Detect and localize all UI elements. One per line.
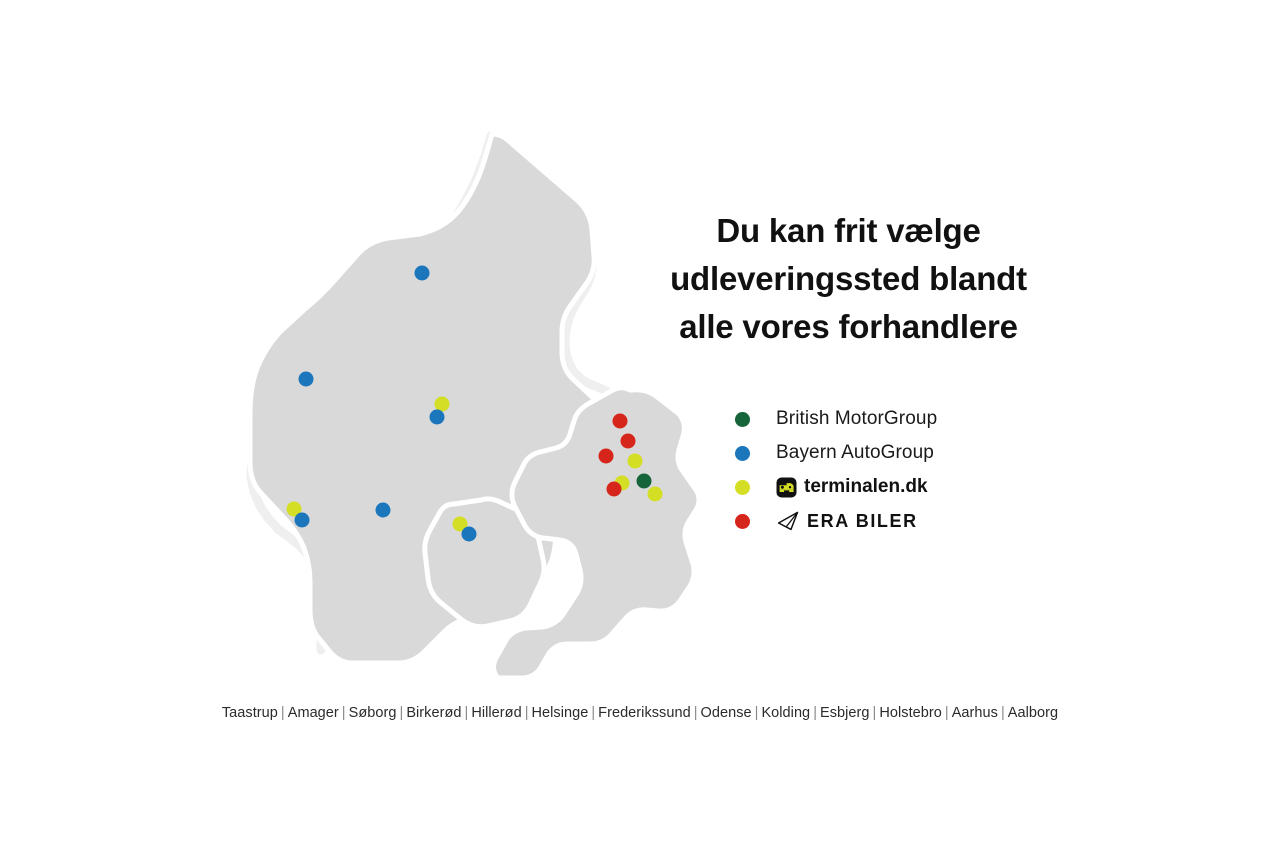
city-separator: | [396, 705, 406, 721]
legend-label-bayern-autogroup: Bayern AutoGroup [776, 442, 934, 464]
legend-swatch-bayern-autogroup [735, 446, 750, 461]
legend-item-era-biler[interactable]: ERA BILER [735, 504, 1065, 538]
era-biler-logo: ERA BILER [776, 511, 918, 532]
city-separator: | [339, 705, 349, 721]
city-separator: | [691, 705, 701, 721]
denmark-map-svg [238, 118, 698, 678]
map-landmasses [250, 134, 698, 678]
city-separator: | [752, 705, 762, 721]
terminalen-logo-text: terminalen.dk [804, 476, 928, 498]
marker-frederikssund-era[interactable] [599, 449, 614, 464]
legend-item-british-motorgroup[interactable]: British MotorGroup [735, 402, 1065, 436]
city-name: Birkerød [406, 705, 461, 721]
city-separator: | [522, 705, 532, 721]
city-name: Amager [288, 705, 339, 721]
city-name: Taastrup [222, 705, 278, 721]
marker-odense-bayern[interactable] [462, 527, 477, 542]
city-name: Hillerød [471, 705, 521, 721]
dealer-legend: British MotorGroup Bayern AutoGroup term… [735, 402, 1065, 538]
city-name: Odense [701, 705, 752, 721]
legend-swatch-terminalen [735, 480, 750, 495]
page-title: Du kan frit vælge udleveringssted blandt… [636, 207, 1061, 351]
marker-aalborg-bayern[interactable] [415, 266, 430, 281]
city-separator: | [588, 705, 598, 721]
page-title-line-2: udleveringssted blandt [636, 255, 1061, 303]
marker-birkerod-terminalen[interactable] [628, 454, 643, 469]
page-title-line-1: Du kan frit vælge [636, 207, 1061, 255]
marker-helsinge-era[interactable] [613, 414, 628, 429]
marker-aarhus-terminalen[interactable] [435, 397, 450, 412]
city-name: Aarhus [952, 705, 998, 721]
page-title-line-3: alle vores forhandlere [636, 303, 1061, 351]
city-separator: | [942, 705, 952, 721]
truck-badge-icon [776, 477, 797, 498]
city-name: Helsinge [532, 705, 589, 721]
era-biler-logo-text: ERA BILER [807, 511, 918, 532]
city-separator: | [998, 705, 1008, 721]
city-name: Søborg [349, 705, 397, 721]
city-separator: | [870, 705, 880, 721]
marker-esbjerg-bayern[interactable] [295, 513, 310, 528]
city-name: Aalborg [1008, 705, 1058, 721]
marker-taastrup-era[interactable] [607, 482, 622, 497]
marker-aarhus-bayern[interactable] [430, 410, 445, 425]
legend-swatch-era-biler [735, 514, 750, 529]
legend-label-british-motorgroup: British MotorGroup [776, 408, 937, 430]
city-separator: | [810, 705, 820, 721]
denmark-map [238, 118, 698, 678]
land-jutland [250, 134, 602, 663]
city-separator: | [462, 705, 472, 721]
city-name: Holstebro [879, 705, 942, 721]
city-name: Kolding [761, 705, 810, 721]
legend-swatch-british-motorgroup [735, 412, 750, 427]
legend-item-bayern-autogroup[interactable]: Bayern AutoGroup [735, 436, 1065, 470]
era-triangle-icon [776, 511, 800, 531]
poster-canvas: Du kan frit vælge udleveringssted blandt… [0, 0, 1280, 853]
city-name: Esbjerg [820, 705, 870, 721]
legend-item-terminalen[interactable]: terminalen.dk [735, 470, 1065, 504]
city-name: Frederikssund [598, 705, 691, 721]
city-separator: | [278, 705, 288, 721]
terminalen-logo: terminalen.dk [776, 476, 928, 498]
marker-amager-terminalen[interactable] [648, 487, 663, 502]
marker-holstebro-bayern[interactable] [299, 372, 314, 387]
marker-kolding-bayern[interactable] [376, 503, 391, 518]
marker-hillerod-era[interactable] [621, 434, 636, 449]
city-list: Taastrup|Amager|Søborg|Birkerød|Hillerød… [0, 705, 1280, 721]
marker-soborg-british[interactable] [637, 474, 652, 489]
